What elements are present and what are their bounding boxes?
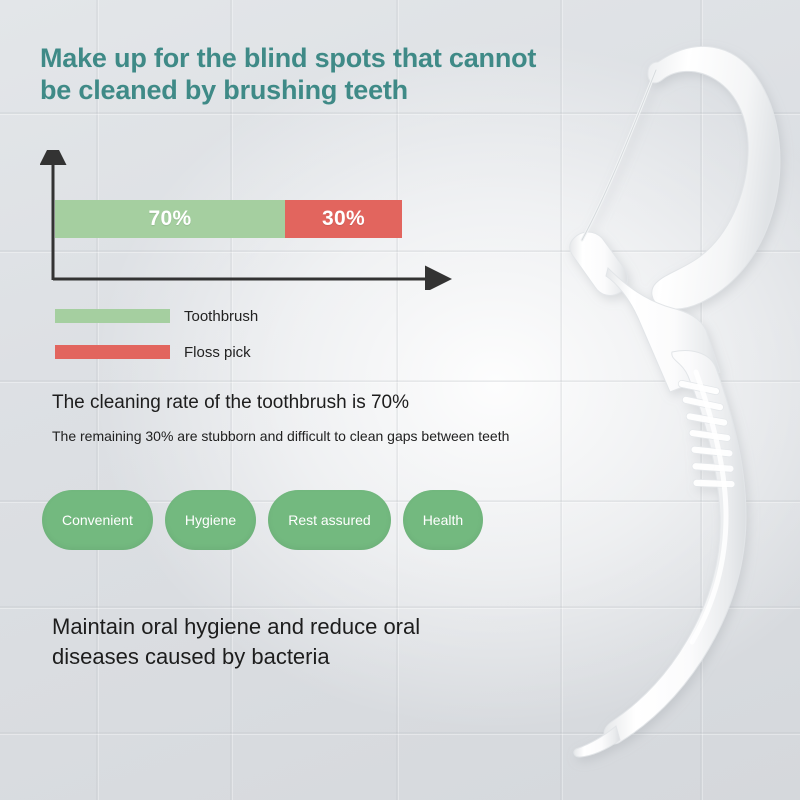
coverage-bar-chart: 70% 30% [40, 150, 460, 290]
bar-segment-flosspick: 30% [285, 200, 402, 238]
benefit-pill-hygiene[interactable]: Hygiene [165, 490, 256, 550]
benefit-pill-health[interactable]: Health [403, 490, 483, 550]
infographic-canvas: Make up for the blind spots that cannot … [0, 0, 800, 800]
benefit-pill-convenient[interactable]: Convenient [42, 490, 153, 550]
sub-statement: The remaining 30% are stubborn and diffi… [52, 428, 509, 444]
legend-label-toothbrush: Toothbrush [184, 308, 258, 325]
legend-swatch-red [55, 345, 170, 359]
bar-segment-toothbrush: 70% [55, 200, 285, 238]
chart-legend: Toothbrush Floss pick [55, 298, 355, 370]
benefit-pill-group: Convenient Hygiene Rest assured Health [42, 490, 483, 550]
legend-item-toothbrush: Toothbrush [55, 298, 355, 334]
floss-pick-illustration [520, 0, 800, 800]
lead-statement: The cleaning rate of the toothbrush is 7… [52, 392, 409, 414]
stacked-bar: 70% 30% [55, 200, 402, 238]
closing-statement: Maintain oral hygiene and reduce oral di… [52, 612, 522, 672]
legend-swatch-green [55, 309, 170, 323]
legend-label-flosspick: Floss pick [184, 344, 251, 361]
floss-pick-image [520, 0, 800, 800]
legend-item-flosspick: Floss pick [55, 334, 355, 370]
benefit-pill-rest-assured[interactable]: Rest assured [268, 490, 390, 550]
